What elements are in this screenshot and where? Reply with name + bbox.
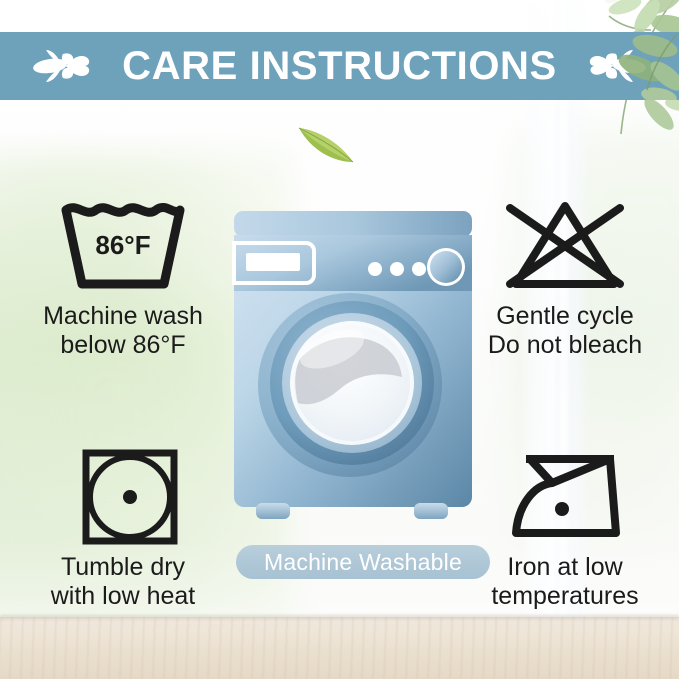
table-edge xyxy=(0,615,679,620)
green-leaf-icon xyxy=(295,122,357,166)
page-title: CARE INSTRUCTIONS xyxy=(122,46,557,86)
badge-label: Machine Washable xyxy=(264,551,462,574)
header-banner: CARE INSTRUCTIONS xyxy=(0,32,679,100)
care-symbol-caption: Machine wash below 86°F xyxy=(10,302,236,360)
fleur-de-lis-icon-right xyxy=(583,44,647,88)
care-symbol-iron: Iron at low temperatures xyxy=(452,447,678,611)
care-symbol-caption: Tumble dry with low heat xyxy=(10,553,236,611)
table-wood-grain xyxy=(0,617,679,679)
tumble-dry-square-icon xyxy=(10,447,236,547)
iron-icon xyxy=(452,447,678,547)
care-symbol-gentle-cycle-no-bleach: Gentle cycle Do not bleach xyxy=(452,196,678,360)
care-symbol-caption: Gentle cycle Do not bleach xyxy=(452,302,678,360)
crossed-triangle-icon xyxy=(452,196,678,296)
washing-machine-illustration xyxy=(228,207,478,532)
wash-temperature-value: 86°F xyxy=(95,230,150,260)
care-symbol-machine-wash: 86°F Machine wash below 86°F xyxy=(10,196,236,360)
care-symbol-tumble-dry: Tumble dry with low heat xyxy=(10,447,236,611)
fleur-de-lis-icon-left xyxy=(32,44,96,88)
care-instructions-infographic: CARE INSTRUCTIONS xyxy=(0,0,679,679)
wash-tub-icon: 86°F xyxy=(10,196,236,296)
care-symbol-caption: Iron at low temperatures xyxy=(452,553,678,611)
